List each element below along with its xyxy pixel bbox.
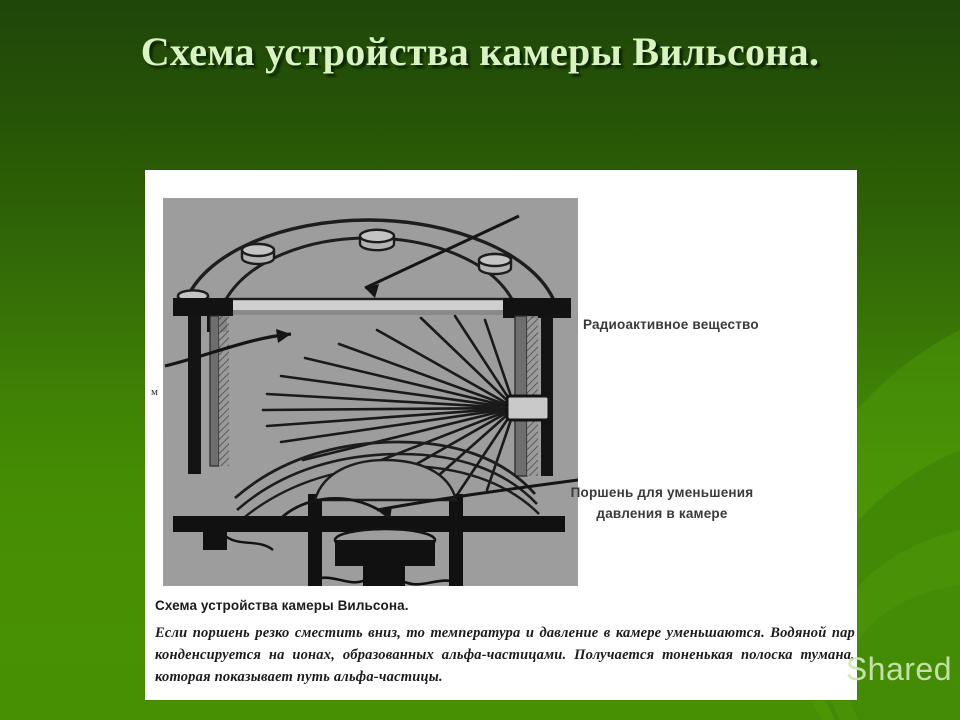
presentation-slide: Схема устройства камеры Вильсона. м: [0, 0, 960, 720]
annotation-pressure-reducing-piston: Поршень для уменьшения давления в камере: [537, 483, 787, 525]
figure-edge-letter: м: [151, 386, 158, 398]
shared-watermark: Shared: [846, 651, 952, 688]
caption-block: Схема устройства камеры Вильсона. Если п…: [155, 598, 855, 688]
page-title: Схема устройства камеры Вильсона.: [110, 26, 850, 79]
caption-body: Если поршень резко сместить вниз, то тем…: [155, 623, 855, 688]
wilson-cloud-chamber-diagram: [163, 198, 578, 586]
annotation-radioactive-substance: Радиоактивное вещество: [583, 315, 759, 336]
figure-wrap: м: [163, 198, 578, 586]
content-card: м: [145, 170, 857, 700]
caption-heading: Схема устройства камеры Вильсона.: [155, 598, 855, 613]
